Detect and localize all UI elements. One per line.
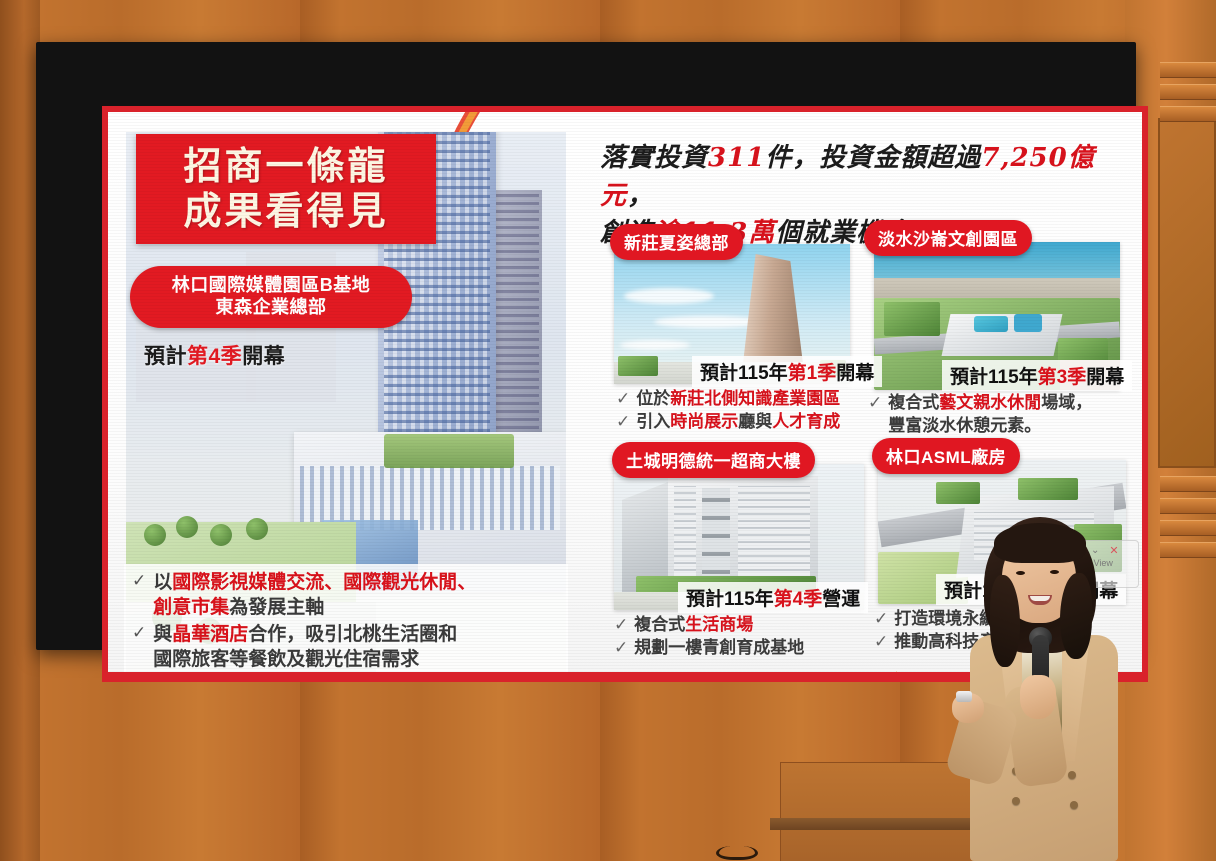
card-xinzhuang: 新莊夏姿總部 預計115年第1季開幕 ✓位於新莊北側知識產業園區 ✓引入時 (600, 224, 862, 434)
check-icon: ✓ (614, 637, 628, 660)
tree (144, 524, 166, 546)
card-xinzhuang-caption: 預計115年第1季開幕 (692, 356, 882, 387)
check-icon: ✓ (868, 392, 882, 438)
cap-post: 營運 (822, 589, 860, 610)
wall-slat (1160, 498, 1216, 514)
wall-decorative-inset (1158, 118, 1216, 468)
card-tamsui: 淡水沙崙文創園區 預計115年第3季開幕 ✓複合式 (860, 220, 1132, 435)
bullet-text: 引入時尚展示廳與人才育成 (636, 411, 840, 434)
bullet-item: ✓規劃一樓青創育成基地 (614, 637, 874, 660)
slide-title-line1: 招商一條龍 (183, 145, 388, 188)
card-xinzhuang-badge: 新莊夏姿總部 (610, 224, 743, 260)
card-tamsui-badge: 淡水沙崙文創園區 (864, 220, 1032, 256)
left-bullet-item: ✓ 以國際影視媒體交流、國際觀光休閒、創意市集為發展主軸 (132, 570, 562, 620)
left-bullet-text: 以國際影視媒體交流、國際觀光休閒、創意市集為發展主軸 (153, 570, 476, 620)
card-tucheng-caption: 預計115年第4季營運 (678, 582, 868, 613)
trees (618, 356, 658, 376)
cap-pre: 預計115年 (686, 589, 774, 610)
check-icon: ✓ (616, 388, 630, 411)
left-bullet-item: ✓ 與晶華酒店合作，吸引北桃生活圈和國際旅客等餐飲及觀光住宿需求 (132, 622, 562, 672)
bullet-text: 複合式藝文親水休閒場域，豐富淡水休憩元素。 (888, 392, 1092, 438)
bullet-text: 複合式生活商場 (634, 614, 753, 637)
card-xinzhuang-bullets: ✓位於新莊北側知識產業園區 ✓引入時尚展示廳與人才育成 (616, 388, 866, 434)
presenter-hair-right (1060, 573, 1092, 659)
card-tucheng-badge: 土城明德統一超商大樓 (612, 442, 815, 478)
bullet-text: 規劃一樓青創育成基地 (634, 637, 804, 660)
jacket-button (1012, 797, 1020, 805)
check-icon: ✓ (132, 622, 146, 672)
cloud (624, 288, 714, 304)
bullet-text: 位於新莊北側知識產業園區 (636, 388, 840, 411)
jacket-button (1068, 771, 1076, 779)
tree (246, 518, 268, 540)
roof-garden (384, 434, 514, 468)
left-project-label: 林口國際媒體園區B基地 東森企業總部 (130, 266, 412, 328)
left-project-date: 預計第4季開幕 (144, 340, 285, 370)
roof-garden (1018, 478, 1078, 500)
water-feature (1014, 314, 1042, 332)
slide-title: 招商一條龍 成果看得見 (136, 134, 436, 244)
presenter-bangs (994, 523, 1086, 563)
presenter-hand-right (1020, 675, 1056, 719)
card-tucheng-bullets: ✓複合式生活商場 ✓規劃一樓青創育成基地 (614, 614, 874, 660)
cap-pre: 預計115年 (950, 367, 1038, 388)
wall-slat (1160, 542, 1216, 558)
hdr-l1-pre: 落實投資 (600, 143, 708, 173)
hdr-l1-num1: 311 (708, 143, 765, 173)
left-bullet-text: 與晶華酒店合作，吸引北桃生活圈和國際旅客等餐飲及觀光住宿需求 (153, 622, 457, 672)
card-asml-badge: 林口ASML廠房 (872, 438, 1020, 474)
trees (884, 302, 940, 336)
check-icon: ✓ (614, 614, 628, 637)
presenter-eye-left (1016, 571, 1025, 575)
wall-slat (1160, 106, 1216, 122)
facade-detail (738, 486, 810, 590)
wall-slat (1160, 84, 1216, 100)
check-icon: ✓ (874, 608, 888, 631)
bullet-item: ✓複合式藝文親水休閒場域，豐富淡水休憩元素。 (868, 392, 1132, 438)
hdr-l1-mid: 件，投資金額超過 (765, 143, 981, 173)
wall-slat (1160, 476, 1216, 492)
cable (716, 846, 758, 860)
cap-pre: 預計115年 (700, 363, 788, 384)
check-icon: ✓ (132, 570, 146, 620)
cap-post: 開幕 (1086, 367, 1124, 388)
cloud (620, 340, 690, 350)
wall-left-panel (0, 0, 40, 861)
left-date-highlight: 第4季 (187, 345, 242, 368)
hdr-l1-post: ， (627, 181, 654, 211)
presentation-clicker (956, 691, 972, 702)
slide-title-line2: 成果看得見 (183, 190, 388, 233)
check-icon: ✓ (874, 631, 888, 654)
left-bullet-list: ✓ 以國際影視媒體交流、國際觀光休閒、創意市集為發展主軸 ✓ 與晶華酒店合作，吸… (124, 564, 568, 672)
tree (176, 516, 198, 538)
left-project-label-line1: 林口國際媒體園區B基地 (172, 275, 371, 297)
card-tucheng: 土城明德統一超商大樓 預計115年第4季營運 ✓複合式生活商場 ✓規劃一樓 (600, 442, 880, 657)
check-icon: ✓ (616, 411, 630, 434)
wall-slat (1160, 520, 1216, 536)
presenter-eye-right (1050, 570, 1059, 574)
presenter-teeth (1030, 596, 1050, 601)
tree (210, 524, 232, 546)
cap-hl: 第3季 (1038, 367, 1087, 388)
left-panel: 招商一條龍 成果看得見 林口國際媒體園區B基地 東森企業總部 預計第4季開幕 ✓… (108, 112, 578, 672)
bullet-item: ✓複合式生活商場 (614, 614, 874, 637)
card-tamsui-caption: 預計115年第3季開幕 (942, 360, 1132, 391)
left-date-pre: 預計 (144, 345, 187, 368)
left-date-post: 開幕 (242, 345, 285, 368)
bullet-item: ✓引入時尚展示廳與人才育成 (616, 411, 866, 434)
left-project-label-line2: 東森企業總部 (216, 297, 327, 319)
facade-detail (674, 486, 696, 590)
wall-slat (1160, 62, 1216, 78)
jacket-button (1070, 801, 1078, 809)
cap-hl: 第1季 (788, 363, 837, 384)
bullet-item: ✓位於新莊北側知識產業園區 (616, 388, 866, 411)
cap-hl: 第4季 (774, 589, 823, 610)
presenter-speaker (950, 515, 1130, 861)
water-feature (974, 316, 1008, 332)
roof-garden (936, 482, 980, 504)
cap-post: 開幕 (836, 363, 874, 384)
facade-detail (702, 488, 730, 588)
card-tamsui-bullets: ✓複合式藝文親水休閒場域，豐富淡水休憩元素。 (868, 392, 1132, 438)
